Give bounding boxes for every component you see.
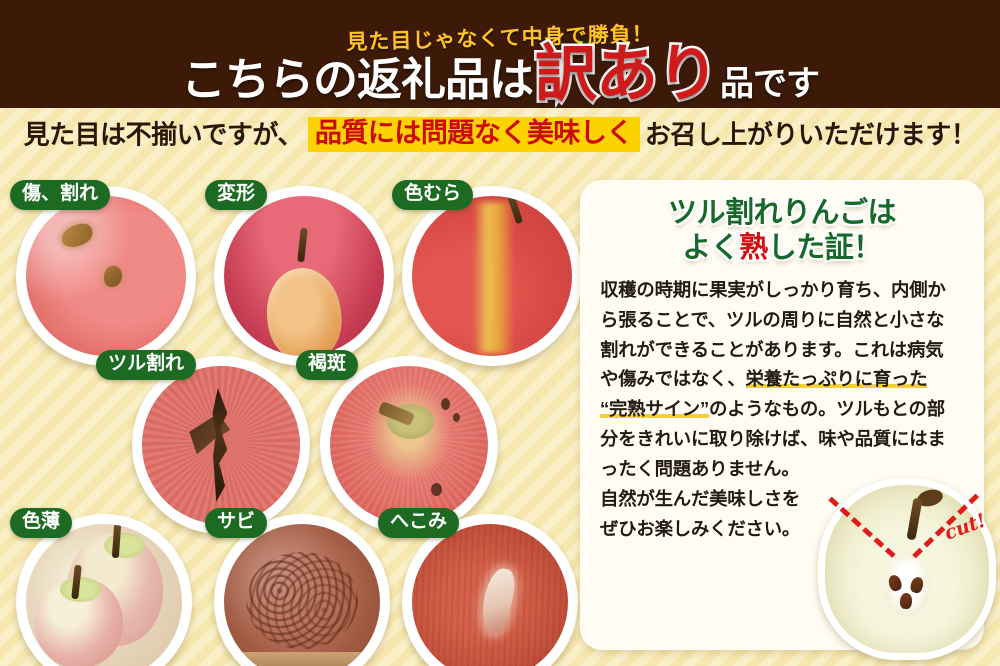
badge-apple-russet: サビ <box>205 508 267 538</box>
body-line: “完熟サイン”のようなもの。ツルもとの部 <box>600 394 972 424</box>
panel-title-line2-accent: 熟 <box>739 232 768 264</box>
badge-apple-brown-spot: 褐斑 <box>296 350 358 380</box>
photo-apple-uneven-color <box>402 186 582 366</box>
photo-inner <box>26 196 186 356</box>
apple-seed <box>909 576 925 595</box>
brown-spot <box>441 398 450 410</box>
badge-apple-uneven-color: 色むら <box>392 180 473 210</box>
subtitle-highlight: 品質には問題なく美味しく <box>308 117 640 152</box>
photo-inner <box>142 366 300 524</box>
header-title: こちらの返礼品は訳あり品です <box>0 44 1000 106</box>
apple-stem <box>907 498 923 541</box>
apple-seed <box>887 573 903 592</box>
color-unevenness-band <box>473 202 515 352</box>
header-title-accent: 訳あり <box>535 40 718 108</box>
subtitle-before: 見た目は不揃いですが、 <box>24 120 303 150</box>
apple-core <box>884 559 930 617</box>
subtitle-after: お召し上がりいただけます！ <box>645 120 977 150</box>
body-line: ら張ることで、ツルの周りに自然と小さな <box>600 305 972 335</box>
subtitle-line: 見た目は不揃いですが、品質には問題なく美味しくお召し上がりいただけます！ <box>0 117 1000 152</box>
photo-apple-deformed <box>214 186 394 366</box>
panel-title-line2-before: よく <box>682 232 739 264</box>
badge-apple-dent: へこみ <box>378 508 459 538</box>
panel-title-line2: よく熟した証！ <box>580 231 984 266</box>
photo-inner <box>224 524 380 666</box>
body-line: 収穫の時期に果実がしっかり育ち、内側か <box>600 275 972 305</box>
apple-skin <box>330 366 488 524</box>
russet-texture <box>246 552 358 649</box>
body-text: のようなもの。ツルもとの部 <box>709 398 945 419</box>
header-title-suffix: 品です <box>720 65 819 103</box>
badge-apple-scratch-crack: 傷、割れ <box>10 180 110 210</box>
apple-calyx <box>104 533 145 558</box>
header-band: 見た目じゃなくて中身で勝負！ こちらの返礼品は訳あり品です <box>0 0 1000 108</box>
cut-apple-photo: cut! <box>818 478 996 660</box>
promo-banner: 見た目じゃなくて中身で勝負！ こちらの返礼品は訳あり品です 見た目は不揃いですが… <box>0 0 1000 666</box>
body-text: や傷みではなく、 <box>600 368 746 389</box>
apple-calyx <box>60 577 101 602</box>
body-line: や傷みではなく、栄養たっぷりに育った <box>600 364 972 394</box>
photo-inner <box>26 524 182 666</box>
body-text-underlined: 栄養たっぷりに育った <box>746 368 928 389</box>
badge-apple-stem-crack: ツル割れ <box>96 350 196 380</box>
body-line: 割れができることがあります。これは病気 <box>600 335 972 365</box>
header-title-prefix: こちらの返礼品は <box>181 54 533 105</box>
apple-seed <box>899 593 912 610</box>
photo-inner <box>330 366 488 524</box>
body-line: 分をきれいに取り除けば、味や品質にはま <box>600 424 972 454</box>
photo-inner <box>224 196 384 356</box>
wood-surface <box>224 652 380 666</box>
badge-apple-pale-color: 色薄 <box>10 508 72 538</box>
photo-inner <box>412 196 572 356</box>
badge-apple-deformed: 変形 <box>205 180 267 210</box>
photo-apple-scratch-crack <box>16 186 196 366</box>
body-text-underlined: “完熟サイン” <box>600 398 709 419</box>
panel-title-line1: ツル割れりんごは <box>580 196 984 231</box>
panel-title: ツル割れりんごは よく熟した証！ <box>580 196 984 267</box>
brown-spot <box>431 483 442 496</box>
photo-inner <box>412 524 568 666</box>
panel-title-line2-after: した証！ <box>768 232 882 264</box>
